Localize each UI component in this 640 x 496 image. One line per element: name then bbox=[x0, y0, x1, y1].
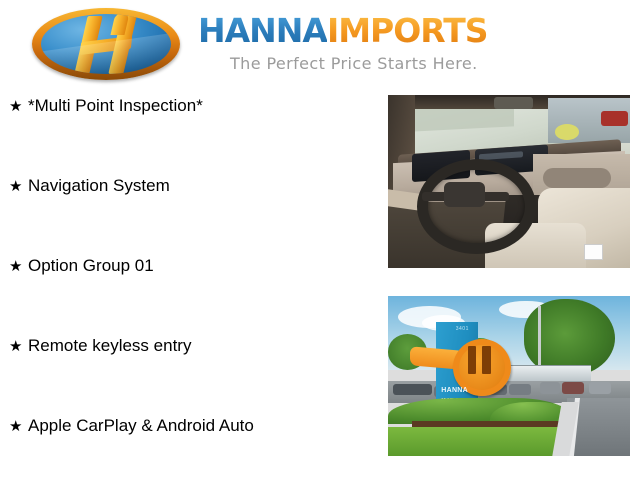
star-icon: ★ bbox=[9, 419, 28, 434]
star-icon: ★ bbox=[9, 99, 28, 114]
sign-text-hanna: HANNA bbox=[441, 387, 468, 394]
wordmark-hanna: HANNA bbox=[198, 11, 327, 50]
feature-label: Remote keyless entry bbox=[28, 336, 191, 356]
door-armrest bbox=[543, 168, 611, 189]
rearview-mirror bbox=[494, 97, 533, 109]
dealership-sign-photo[interactable]: 3401 HANNA IMPORTS bbox=[388, 296, 630, 456]
brand-wordmark: HANNAIMPORTS bbox=[198, 14, 488, 47]
wordmark-imports: IMPORTS bbox=[327, 11, 488, 50]
feature-label: *Multi Point Inspection* bbox=[28, 96, 203, 116]
sign-street-number: 3401 bbox=[456, 326, 469, 332]
sign-h-stroke bbox=[468, 346, 476, 375]
feature-label: Navigation System bbox=[28, 176, 170, 196]
hanna-h-emblem-icon bbox=[32, 8, 180, 80]
feature-label: Option Group 01 bbox=[28, 256, 154, 276]
list-item: ★ Remote keyless entry bbox=[0, 336, 370, 416]
vehicle-interior-photo[interactable] bbox=[388, 95, 630, 268]
parked-car bbox=[562, 382, 584, 393]
brand-tagline: The Perfect Price Starts Here. bbox=[230, 54, 488, 73]
star-icon: ★ bbox=[9, 339, 28, 354]
side-mirror bbox=[555, 124, 579, 140]
list-item: ★ *Multi Point Inspection* bbox=[0, 96, 370, 176]
star-icon: ★ bbox=[9, 179, 28, 194]
steering-wheel-hub bbox=[444, 182, 485, 208]
seat-tag bbox=[584, 244, 603, 260]
parked-car bbox=[509, 384, 531, 395]
parked-car bbox=[540, 382, 559, 393]
vehicle-feature-list: ★ *Multi Point Inspection* ★ Navigation … bbox=[0, 96, 370, 496]
emblem-inner-disc bbox=[41, 14, 171, 74]
brand-header: HANNAIMPORTS The Perfect Price Starts He… bbox=[0, 0, 640, 88]
star-icon: ★ bbox=[9, 259, 28, 274]
list-item: ★ Navigation System bbox=[0, 176, 370, 256]
parked-car bbox=[589, 382, 611, 393]
grass-lawn bbox=[388, 427, 567, 456]
hanna-imports-logo[interactable]: HANNAIMPORTS The Perfect Price Starts He… bbox=[32, 8, 488, 80]
emblem-h-left-stroke bbox=[74, 16, 102, 74]
sign-h-stroke bbox=[482, 346, 490, 375]
parked-car bbox=[393, 384, 432, 395]
list-item: ★ Apple CarPlay & Android Auto bbox=[0, 416, 370, 496]
logo-text-block: HANNAIMPORTS The Perfect Price Starts He… bbox=[198, 8, 488, 73]
feature-label: Apple CarPlay & Android Auto bbox=[28, 416, 254, 436]
list-item: ★ Option Group 01 bbox=[0, 256, 370, 336]
red-car-outside bbox=[601, 111, 628, 127]
